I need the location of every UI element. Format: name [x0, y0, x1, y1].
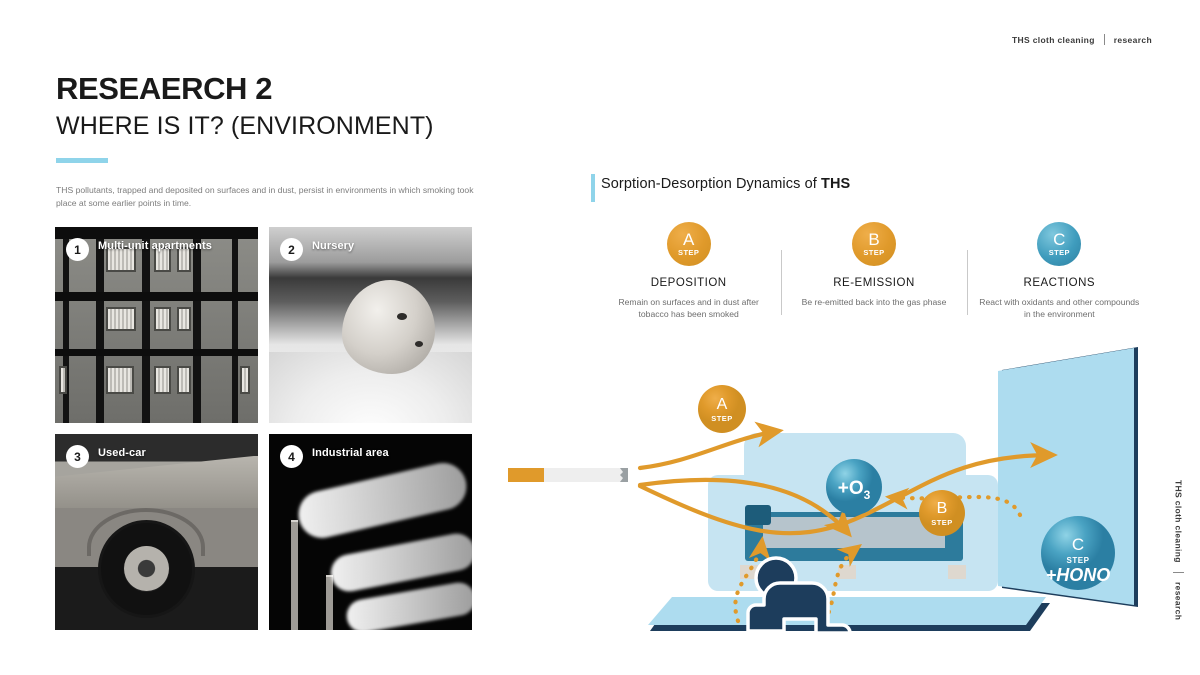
- diagram-badge-c-letter: C: [1072, 535, 1084, 554]
- step-column-re-emission: B STEP RE-EMISSION Be re-emitted back in…: [781, 222, 966, 321]
- diagram-badge-c-formula: +HONO: [1046, 565, 1111, 585]
- ozone-label: +O: [838, 478, 864, 499]
- panel-title-prefix: Sorption-Desorption Dynamics of: [601, 176, 821, 192]
- side-meta-divider: [1173, 572, 1184, 573]
- photo-badge-number: 1: [66, 238, 89, 261]
- photo-caption: Nursery: [312, 240, 354, 252]
- title-main: RESEAERCH 2: [56, 72, 434, 106]
- diagram-badge-a: A STEP: [698, 385, 746, 433]
- header-meta-divider: [1104, 34, 1105, 45]
- diagram-badge-a-word: STEP: [711, 414, 733, 423]
- step-column-reactions: C STEP REACTIONS React with oxidants and…: [967, 222, 1152, 321]
- cigarette: [508, 468, 628, 482]
- photo-badge-number: 2: [280, 238, 303, 261]
- diagram-badge-b: B STEP: [919, 490, 965, 536]
- step-column-deposition: A STEP DEPOSITION Remain on surfaces and…: [596, 222, 781, 321]
- diagram-badge-c-word: STEP: [1067, 556, 1090, 565]
- steps-row: A STEP DEPOSITION Remain on surfaces and…: [596, 222, 1152, 321]
- floor-plane: [648, 597, 1050, 631]
- photo-grid: 1 Multi-unit apartments 2 Nursery 3 Used…: [55, 227, 472, 631]
- diagram-badge-b-word: STEP: [931, 518, 953, 527]
- side-meta-left: THS cloth cleaning: [1174, 480, 1184, 563]
- photo-caption: Industrial area: [312, 447, 389, 459]
- step-name: RE-EMISSION: [833, 277, 915, 289]
- step-description: Remain on surfaces and in dust after tob…: [606, 296, 771, 321]
- diagram-badge-c: C STEP +HONO: [1041, 516, 1115, 590]
- step-chip-b: B STEP: [852, 222, 896, 266]
- photo-card-apartments[interactable]: 1 Multi-unit apartments: [55, 227, 258, 423]
- photo-caption: Multi-unit apartments: [98, 240, 212, 252]
- header-meta-right: research: [1114, 35, 1152, 45]
- page-title: RESEAERCH 2 WHERE IS IT? (ENVIRONMENT): [56, 72, 434, 163]
- sorption-desorption-diagram: A STEP +O3 B STEP C STEP +HONO: [490, 335, 1170, 655]
- lead-paragraph: THS pollutants, trapped and deposited on…: [56, 184, 476, 211]
- step-chip-word: STEP: [1049, 249, 1070, 257]
- ozone-subscript: 3: [864, 488, 871, 502]
- side-meta: THS cloth cleaning research: [1173, 480, 1184, 620]
- diagram-badge-b-letter: B: [937, 500, 948, 517]
- photo-card-industrial-area[interactable]: 4 Industrial area: [269, 434, 472, 630]
- step-chip-word: STEP: [678, 249, 699, 257]
- side-meta-right: research: [1174, 582, 1184, 620]
- step-chip-word: STEP: [863, 249, 884, 257]
- title-accent-rule: [56, 158, 108, 163]
- step-chip-a: A STEP: [667, 222, 711, 266]
- ozone-sphere: +O3: [826, 459, 882, 515]
- panel-title-strong: THS: [821, 176, 850, 192]
- photo-card-used-car[interactable]: 3 Used-car: [55, 434, 258, 630]
- photo-caption: Used-car: [98, 447, 146, 459]
- step-chip-c: C STEP: [1037, 222, 1081, 266]
- step-chip-letter: A: [683, 231, 694, 248]
- panel-accent-rule: [591, 174, 595, 202]
- step-description: React with oxidants and other compounds …: [977, 296, 1142, 321]
- step-chip-letter: C: [1053, 231, 1065, 248]
- step-name: DEPOSITION: [651, 277, 727, 289]
- step-name: REACTIONS: [1024, 277, 1096, 289]
- step-chip-letter: B: [868, 231, 879, 248]
- photo-card-nursery[interactable]: 2 Nursery: [269, 227, 472, 423]
- step-description: Be re-emitted back into the gas phase: [802, 296, 947, 308]
- diagram-badge-a-letter: A: [717, 396, 728, 413]
- title-subtitle: WHERE IS IT? (ENVIRONMENT): [56, 113, 434, 141]
- panel-title: Sorption-Desorption Dynamics of THS: [601, 176, 850, 192]
- header-meta-left: THS cloth cleaning: [1012, 35, 1095, 45]
- header-meta: THS cloth cleaning research: [1012, 34, 1152, 45]
- photo-badge-number: 4: [280, 445, 303, 468]
- photo-badge-number: 3: [66, 445, 89, 468]
